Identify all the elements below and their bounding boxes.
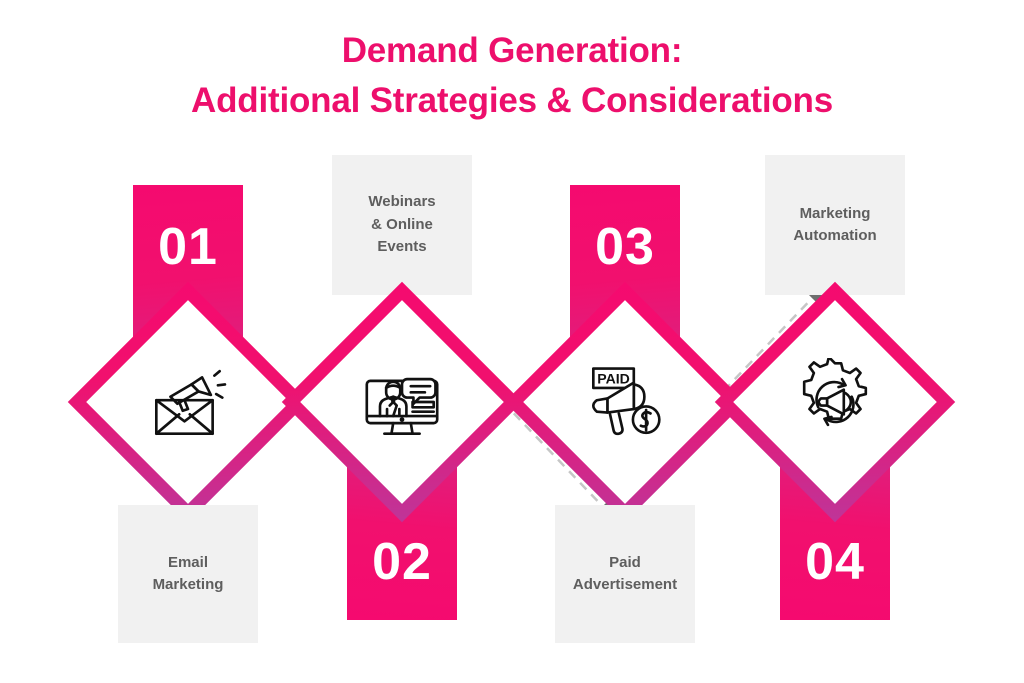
paid-sign-text: PAID [597,371,630,387]
infographic-canvas: Demand Generation: Additional Strategies… [0,0,1024,683]
step-label-line-2: Advertisement [573,574,677,597]
step-label-card-3: Paid Advertisement [555,505,695,643]
step-number-3: 03 [595,217,655,277]
step-label-card-4: Marketing Automation [765,155,905,295]
step-label-line-2: & Online [368,214,435,237]
step-column-2: Webinars & Online Events 02 [274,0,530,683]
step-icon-diamond-1[interactable] [103,317,273,487]
step-label-line-2: Marketing [153,574,224,597]
step-label-line-1: Webinars [368,191,435,214]
webinar-monitor-person-icon [317,317,487,487]
step-column-4: Marketing Automation 04 [707,0,963,683]
step-label-line-1: Email [153,552,224,575]
step-label-card-2: Webinars & Online Events [332,155,472,295]
step-icon-diamond-2[interactable] [317,317,487,487]
paid-megaphone-dollar-icon: PAID [540,317,710,487]
step-number-1: 01 [158,217,218,277]
step-label-card-1: Email Marketing [118,505,258,643]
step-label-line-1: Marketing [793,203,876,226]
gear-megaphone-automation-icon [750,317,920,487]
step-label-line-3: Events [368,236,435,259]
envelope-megaphone-icon [103,317,273,487]
step-icon-diamond-3[interactable]: PAID [540,317,710,487]
step-number-2: 02 [372,532,432,592]
step-icon-diamond-4[interactable] [750,317,920,487]
step-label-line-1: Paid [573,552,677,575]
step-label-line-2: Automation [793,225,876,248]
step-number-4: 04 [805,532,865,592]
